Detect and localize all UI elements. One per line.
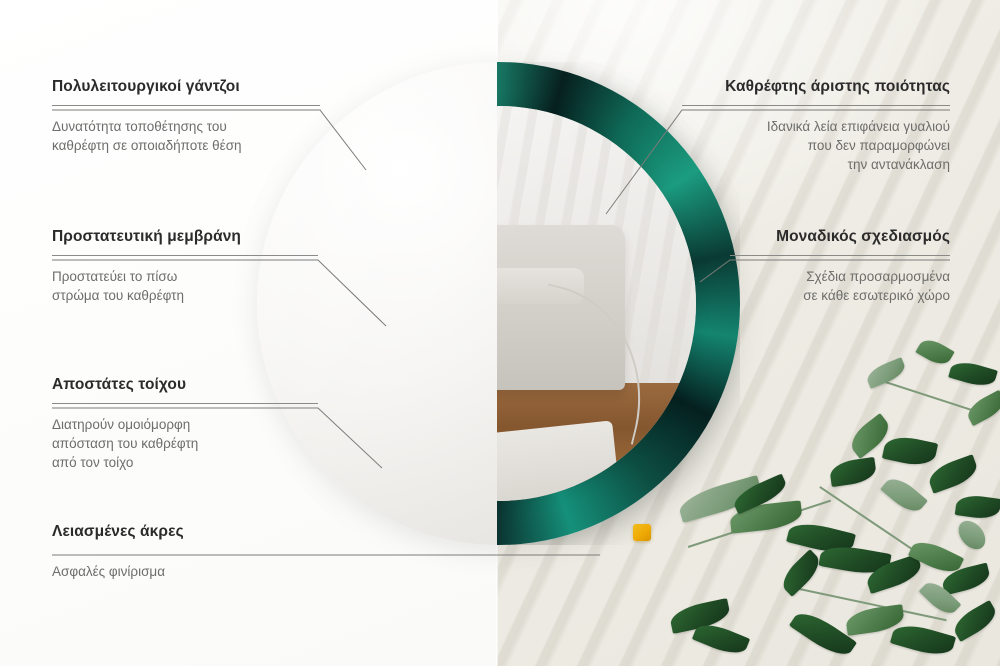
- callout-hooks: Πολυλειτουργικοί γάντζοι Δυνατότητα τοπο…: [52, 78, 320, 155]
- callout-design-rule: [730, 255, 950, 256]
- callout-edges-body: Ασφαλές φινίρισμα: [52, 562, 402, 581]
- product-mirror: [257, 62, 740, 545]
- mirror-glass-sheen: [497, 106, 696, 501]
- callout-quality-body: Ιδανικά λεία επιφάνεια γυαλιού που δεν π…: [682, 117, 950, 174]
- callout-spacers-title: Αποστάτες τοίχου: [52, 376, 318, 394]
- callout-hooks-body: Δυνατότητα τοποθέτησης του καθρέφτη σε ο…: [52, 117, 320, 155]
- callout-design-body: Σχέδια προσαρμοσμένα σε κάθε εσωτερικό χ…: [730, 267, 950, 305]
- callout-hooks-title: Πολυλειτουργικοί γάντζοι: [52, 78, 320, 96]
- callout-quality-rule: [682, 105, 950, 106]
- callout-edges: Λειασμένες άκρες Ασφαλές φινίρισμα: [52, 523, 402, 581]
- callout-membrane-rule: [52, 255, 318, 256]
- callout-spacers-rule: [52, 403, 318, 404]
- callout-design: Μοναδικός σχεδιασμός Σχέδια προσαρμοσμέν…: [730, 228, 950, 305]
- callout-design-title: Μοναδικός σχεδιασμός: [730, 228, 950, 246]
- infographic-canvas: Πολυλειτουργικοί γάντζοι Δυνατότητα τοπο…: [0, 0, 1000, 666]
- callout-hooks-rule: [52, 105, 320, 106]
- callout-membrane: Προστατευτική μεμβράνη Προστατεύει το πί…: [52, 228, 318, 305]
- callout-spacers: Αποστάτες τοίχου Διατηρούν ομοιόμορφη απ…: [52, 376, 318, 472]
- callout-membrane-title: Προστατευτική μεμβράνη: [52, 228, 318, 246]
- callout-membrane-body: Προστατεύει το πίσω στρώμα του καθρέφτη: [52, 267, 318, 305]
- callout-edges-title: Λειασμένες άκρες: [52, 523, 402, 541]
- callout-spacers-body: Διατηρούν ομοιόμορφη απόσταση του καθρέφ…: [52, 415, 318, 472]
- callout-quality: Καθρέφτης άριστης ποιότητας Ιδανικά λεία…: [682, 78, 950, 174]
- mirror-glass: [497, 106, 696, 501]
- callout-quality-title: Καθρέφτης άριστης ποιότητας: [682, 78, 950, 96]
